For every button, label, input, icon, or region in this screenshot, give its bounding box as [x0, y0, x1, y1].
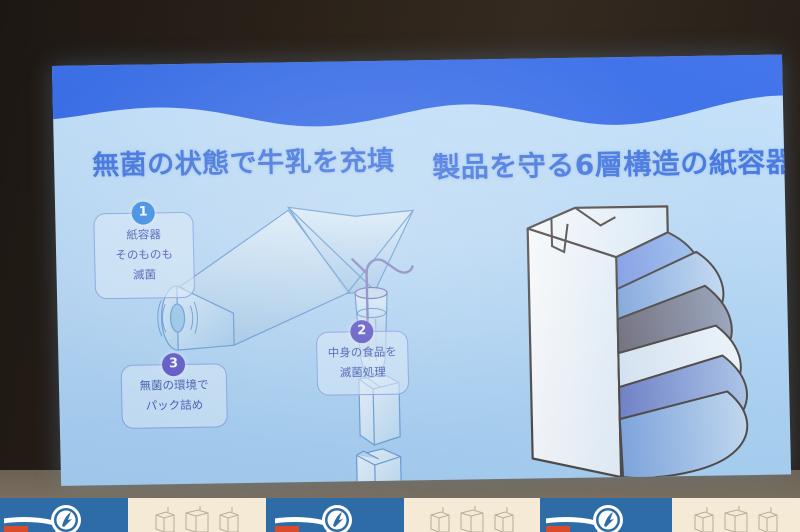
banner-panel-cream: [672, 498, 800, 532]
box1-line2: そのものも: [115, 245, 173, 266]
banner-panel-blue: [0, 498, 128, 532]
callout-box-2[interactable]: 2 中身の食品を 滅菌処理: [316, 330, 409, 395]
box1-line3: 滅菌: [133, 265, 156, 285]
banner-panel-blue: [540, 498, 672, 532]
carton-line-drawings: [417, 505, 527, 532]
photo-of-presentation-screen: 無菌の状態で牛乳を充填 製品を守る6層構造の紙容器: [0, 0, 800, 532]
badge-3: 3: [162, 353, 185, 376]
circular-emblem-logo: [4, 504, 124, 532]
carton-line-drawings: [681, 505, 791, 532]
box1-line1: 紙容器: [126, 226, 161, 246]
banner-panel-cream: [128, 498, 266, 532]
banner-panel-cream: [404, 498, 540, 532]
presentation-slide: 無菌の状態で牛乳を充填 製品を守る6層構造の紙容器: [52, 55, 791, 486]
backdrop-banner: [0, 498, 800, 532]
callout-box-1[interactable]: 1 紙容器 そのものも 滅菌: [93, 212, 195, 300]
box2-line1: 中身の食品を: [328, 343, 397, 364]
banner-panel-blue: [266, 498, 404, 532]
projection-screen-area: 無菌の状態で牛乳を充填 製品を守る6層構造の紙容器: [0, 0, 800, 532]
box2-line2: 滅菌処理: [340, 363, 386, 383]
six-layer-carton-illustration: [527, 205, 749, 479]
badge-1: 1: [131, 201, 154, 224]
circular-emblem-logo: [275, 504, 395, 532]
callout-box-3[interactable]: 3 無菌の環境で パック詰め: [121, 363, 228, 429]
box3-line1: 無菌の環境で: [139, 376, 208, 397]
circular-emblem-logo: [546, 504, 666, 532]
box3-line2: パック詰め: [145, 396, 203, 417]
badge-2: 2: [350, 320, 373, 343]
carton-line-drawings: [142, 505, 252, 532]
